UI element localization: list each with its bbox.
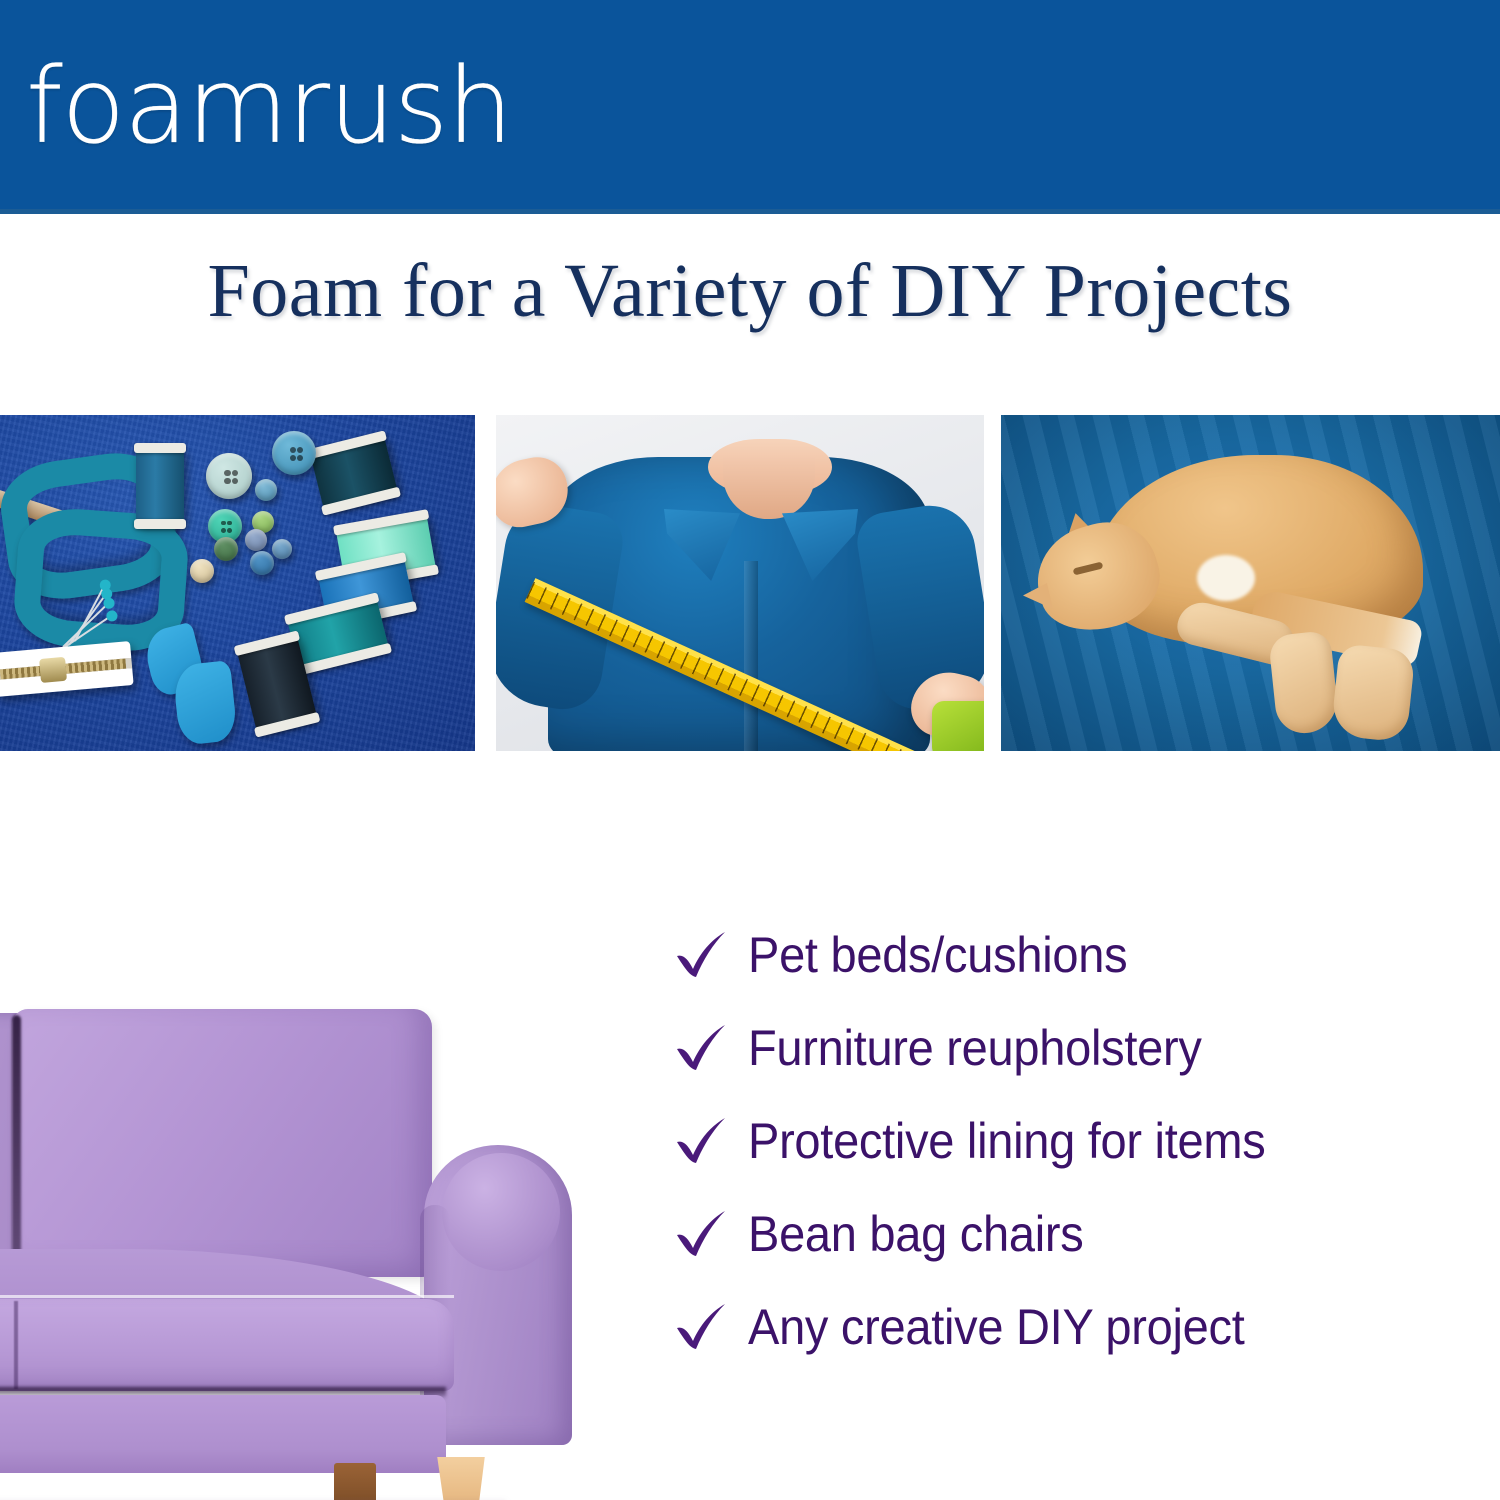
- button-large-pale: [206, 453, 252, 499]
- button-dark-green: [214, 537, 238, 561]
- list-item-label: Pet beds/cushions: [748, 930, 1127, 980]
- cat-hind-paw: [1330, 643, 1415, 742]
- button-cream: [190, 559, 214, 583]
- list-item: Bean bag chairs: [672, 1187, 1482, 1280]
- sofa-leg-back: [334, 1463, 376, 1500]
- button-large-blue: [272, 431, 316, 475]
- sofa-leg-front: [434, 1457, 488, 1500]
- product-marketing-image: foamrush Foam for a Variety of DIY Proje…: [0, 0, 1500, 1500]
- tape-measure-case: [932, 701, 984, 751]
- list-item-label: Any creative DIY project: [748, 1302, 1245, 1352]
- list-item: Any creative DIY project: [672, 1280, 1482, 1373]
- tape-measure-photo: [496, 415, 984, 751]
- brand-banner: foamrush: [0, 0, 1500, 214]
- banner-bottom-edge: [0, 209, 1500, 214]
- button-small-blue: [255, 479, 277, 501]
- list-item: Furniture reupholstery: [672, 1001, 1482, 1094]
- lavender-sofa-illustration: [0, 1005, 596, 1500]
- thread-spool-steel-blue: [136, 447, 184, 525]
- sofa-seat-divider: [14, 1301, 18, 1389]
- button-slate: [245, 529, 267, 551]
- check-icon: [672, 928, 748, 982]
- cat-belly-patch: [1197, 555, 1255, 601]
- shirt-collar-left: [664, 509, 740, 581]
- sofa-cushion-seam: [12, 1015, 21, 1271]
- sofa-seat-seam: [0, 1295, 454, 1298]
- shirt-collar-right: [782, 509, 858, 581]
- cat-on-cushion-photo: [1001, 415, 1500, 751]
- check-icon: [672, 1207, 748, 1261]
- sofa-seat-cushion: [0, 1299, 454, 1391]
- list-item-label: Protective lining for items: [748, 1116, 1265, 1166]
- photo-strip: [0, 415, 1500, 751]
- person-neck: [723, 457, 815, 519]
- sewing-supplies-photo: [0, 415, 475, 751]
- check-icon: [672, 1021, 748, 1075]
- straight-pins: [16, 583, 102, 633]
- shirt-placket: [744, 561, 758, 751]
- list-item-label: Bean bag chairs: [748, 1209, 1083, 1259]
- check-icon: [672, 1114, 748, 1168]
- list-item: Pet beds/cushions: [672, 908, 1482, 1001]
- sofa-back-cushion-main: [12, 1009, 432, 1277]
- button-blue-small-3: [272, 539, 292, 559]
- button-blue-small-2: [250, 551, 274, 575]
- sofa-arm-roll: [442, 1153, 560, 1271]
- check-icon: [672, 1300, 748, 1354]
- list-item-label: Furniture reupholstery: [748, 1023, 1202, 1073]
- sofa-base-skirt: [0, 1395, 446, 1473]
- foamrush-logo: foamrush: [26, 54, 512, 158]
- thread-spool-dark-teal: [310, 435, 398, 512]
- diy-uses-checklist: Pet beds/cushions Furniture reupholstery…: [672, 908, 1482, 1373]
- page-title: Foam for a Variety of DIY Projects: [0, 252, 1500, 331]
- list-item: Protective lining for items: [672, 1094, 1482, 1187]
